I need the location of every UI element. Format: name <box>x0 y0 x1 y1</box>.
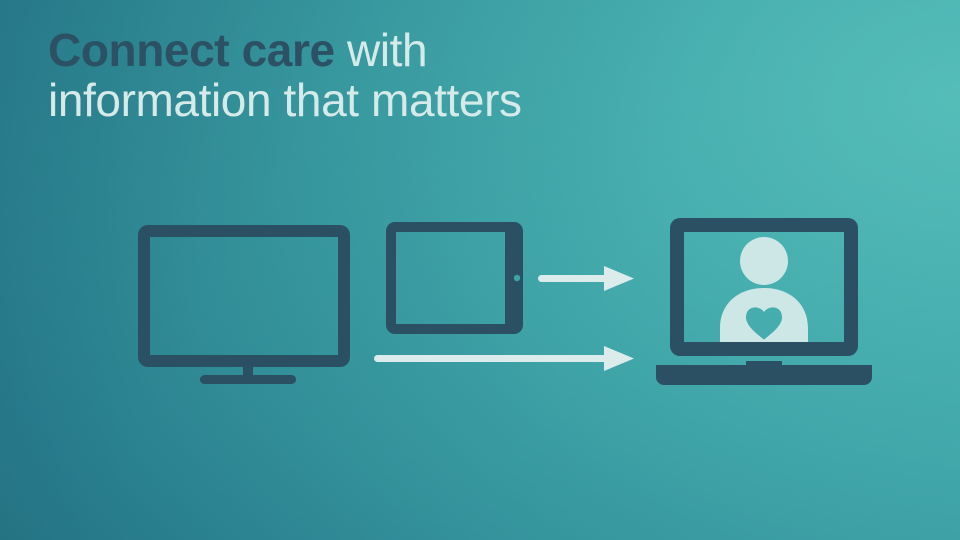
slide-canvas: Connect care with information that matte… <box>0 0 960 540</box>
headline: Connect care with information that matte… <box>48 26 728 125</box>
tablet-icon <box>378 215 530 340</box>
arrow-monitor-to-laptop <box>374 342 638 376</box>
headline-line-1: Connect care with <box>48 26 728 76</box>
arrow-tablet-to-laptop <box>538 262 638 296</box>
headline-light-text-1: with <box>335 24 428 76</box>
headline-line-2: information that matters <box>48 76 728 126</box>
headline-bold-text: Connect care <box>48 24 335 76</box>
desktop-monitor-icon <box>130 215 370 395</box>
laptop-icon <box>648 208 880 394</box>
